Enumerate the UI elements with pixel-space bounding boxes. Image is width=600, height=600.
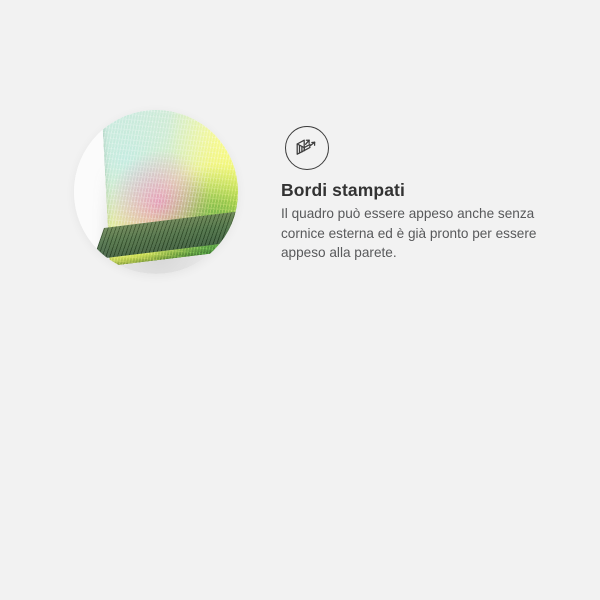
feature-description-printed-edges: Il quadro può essere appeso anche senza …: [281, 204, 549, 263]
product-features-panel: Bordi stampati Il quadro può essere appe…: [0, 0, 600, 600]
printed-canvas-corner-photo: [74, 110, 238, 274]
feature-title-printed-edges: Bordi stampati: [281, 180, 405, 201]
feature-block-eco-product: Prodotto ECO Utilizziamo i materiali e l…: [0, 300, 600, 600]
canvas-photo-scene: [74, 110, 238, 274]
wrapped-canvas-edges-icon: [285, 126, 329, 170]
feature-block-printed-edges: Bordi stampati Il quadro può essere appe…: [0, 0, 600, 300]
